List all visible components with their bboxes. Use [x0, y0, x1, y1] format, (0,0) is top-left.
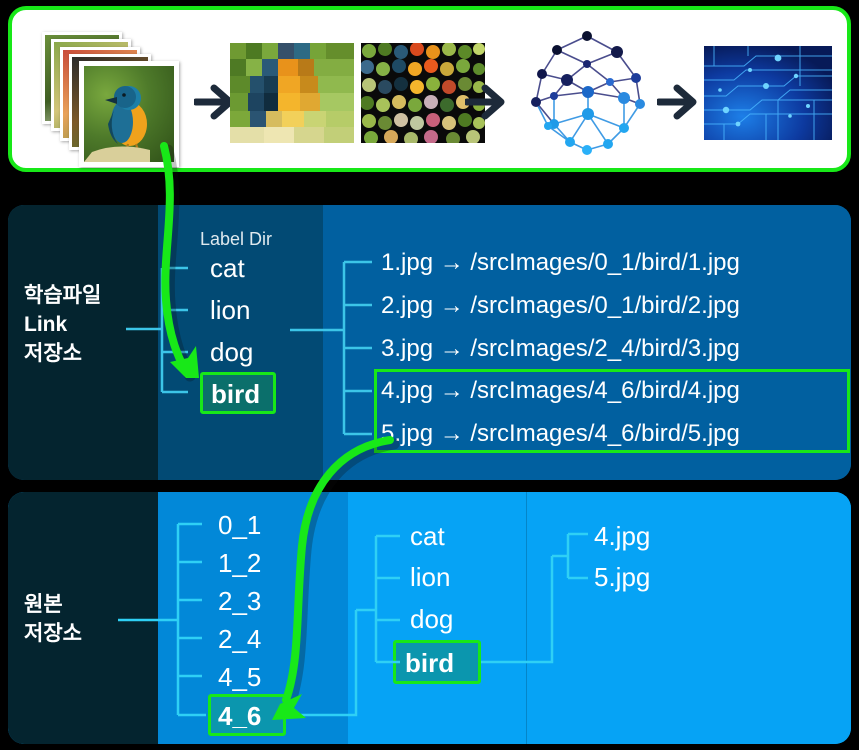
arrow-3-icon [657, 82, 703, 122]
diagram-root: 학습파일 Link 저장소 Label Dir cat lion dog bir… [0, 0, 859, 750]
bird-illustration [84, 66, 174, 162]
source-label-dog: dog [410, 606, 453, 632]
source-repo-column-divider [526, 492, 527, 744]
photo-card-front-bird [79, 61, 179, 167]
source-dir-0-1: 0_1 [218, 512, 261, 538]
photo-stack [34, 28, 194, 158]
neural-network-graph [512, 30, 662, 158]
source-dir-4-5: 4_5 [218, 664, 261, 690]
label-dir-header: Label Dir [200, 226, 272, 252]
source-label-cat: cat [410, 523, 445, 549]
source-label-lion: lion [410, 564, 450, 590]
link-row-2: 2.jpg → /srcImages/0_1/bird/2.jpg [381, 294, 740, 318]
link-row-1: 1.jpg → /srcImages/0_1/bird/1.jpg [381, 251, 740, 275]
link-repo-label-dog: dog [210, 339, 253, 365]
link-repo-label-lion: lion [210, 297, 250, 323]
link-row-4: 4.jpg → /srcImages/4_6/bird/4.jpg [381, 379, 740, 403]
link-repo-side-label: 학습파일 Link 저장소 [24, 281, 101, 368]
link-row-5: 5.jpg → /srcImages/4_6/bird/5.jpg [381, 422, 740, 446]
source-file-4-jpg: 4.jpg [594, 523, 650, 549]
mosaic-block-image [230, 43, 354, 143]
source-dir-2-4: 2_4 [218, 626, 261, 652]
link-repo-label-cat: cat [210, 255, 245, 281]
source-file-5-jpg: 5.jpg [594, 564, 650, 590]
pipeline-panel [8, 6, 851, 172]
source-repo-side-label: 원본 저장소 [24, 590, 82, 648]
link-repo-label-bird: bird [211, 381, 260, 407]
arrow-2-icon [465, 82, 511, 122]
source-dir-1-2: 1_2 [218, 550, 261, 576]
source-dir-2-3: 2_3 [218, 588, 261, 614]
source-dir-4-6: 4_6 [218, 703, 261, 729]
link-row-3: 3.jpg → /srcImages/2_4/bird/3.jpg [381, 337, 740, 361]
circuit-board-image [704, 46, 832, 140]
source-label-bird: bird [405, 650, 454, 676]
